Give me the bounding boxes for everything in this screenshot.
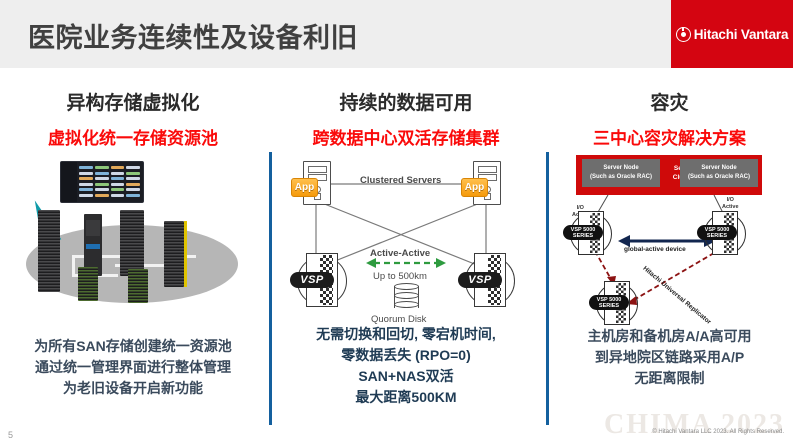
storage-rack xyxy=(164,221,184,287)
vsp5000-primary: VSP 5000 SERIES xyxy=(568,211,612,255)
storage-rack xyxy=(78,267,98,301)
body-line: 为所有SAN存储创建统一资源池 xyxy=(0,336,266,357)
storage-virtualization-diagram xyxy=(0,157,266,332)
column-disaster-recovery: 容灾 三中心容灾解决方案 Server Node(Such as Oracle … xyxy=(546,78,793,428)
body-line: 通过统一管理界面进行整体管理 xyxy=(0,357,266,378)
io-line2: Active xyxy=(722,204,739,210)
io-line1: I/O xyxy=(727,197,734,203)
hitachi-vantara-logo: Hitachi Vantara xyxy=(671,0,793,68)
management-console-screen xyxy=(60,161,144,203)
rack-accent xyxy=(184,221,187,287)
storage-rack xyxy=(128,269,148,303)
three-dc-dr-diagram: Server Node(Such as Oracle RAC) Server C… xyxy=(546,153,793,328)
body-line: 零数据丢失 (RPO=0) xyxy=(272,345,540,366)
column-3-body: 主机房和备机房A/A高可用 到异地院区链路采用A/P 无距离限制 xyxy=(546,326,793,389)
logo-text: Hitachi Vantara xyxy=(694,27,789,42)
console-rows xyxy=(79,166,140,199)
console-sidebar xyxy=(61,162,77,202)
body-line: 主机房和备机房A/A高可用 xyxy=(546,326,793,347)
vsp-storage-right: VSP xyxy=(462,253,518,307)
vsp5000-secondary: VSP 5000 SERIES xyxy=(702,211,746,255)
vsp-line2: SERIES xyxy=(573,233,593,239)
vsp-line2: SERIES xyxy=(707,233,727,239)
hitachi-logo-mark-icon xyxy=(676,27,691,42)
vsp5000-remote: VSP 5000 SERIES xyxy=(594,281,638,325)
page-number: 5 xyxy=(8,430,13,440)
quorum-disk-icon xyxy=(394,283,419,311)
active-active-cluster-diagram: App App Clustered Servers Active-Active … xyxy=(272,155,540,330)
page-title: 医院业务连续性及设备利旧 xyxy=(28,16,358,55)
storage-rack xyxy=(120,210,144,276)
body-line: SAN+NAS双活 xyxy=(272,366,540,387)
column-2-subheading: 跨数据中心双活存储集群 xyxy=(272,124,540,149)
column-2-body: 无需切换和回切, 零宕机时间, 零数据丢失 (RPO=0) SAN+NAS双活 … xyxy=(272,324,540,408)
body-line: 无距离限制 xyxy=(546,368,793,389)
vsp-line2: SERIES xyxy=(599,303,619,309)
app-badge-left: App xyxy=(291,178,318,197)
column-storage-virtualization: 异构存储虚拟化 虚拟化统一存储资源池 xyxy=(0,78,266,428)
global-active-device-label: global-active device xyxy=(624,246,686,253)
storage-rack xyxy=(38,210,60,292)
distance-label: Up to 500km xyxy=(373,271,427,282)
column-1-subheading: 虚拟化统一存储资源池 xyxy=(0,124,266,149)
column-2-heading: 持续的数据可用 xyxy=(272,88,540,115)
vsp-label: VSP xyxy=(458,272,502,288)
vsp-label: VSP xyxy=(290,272,334,288)
active-active-label: Active-Active xyxy=(370,248,430,259)
column-3-subheading: 三中心容灾解决方案 xyxy=(546,124,793,149)
column-3-heading: 容灾 xyxy=(546,88,793,115)
body-line: 为老旧设备开启新功能 xyxy=(0,378,266,399)
body-line: 最大距离500KM xyxy=(272,387,540,408)
vsp-storage-left: VSP xyxy=(294,253,350,307)
copyright-notice: © Hitachi Vantara LLC 2023. All Rights R… xyxy=(652,429,784,435)
slide-header: 医院业务连续性及设备利旧 Hitachi Vantara xyxy=(0,0,793,68)
quorum-disk-label: Quorum Disk xyxy=(371,314,426,325)
column-1-heading: 异构存储虚拟化 xyxy=(0,88,266,115)
io-active-label-right: I/O Active xyxy=(722,197,739,211)
clustered-servers-label: Clustered Servers xyxy=(360,175,441,186)
column-continuous-availability: 持续的数据可用 跨数据中心双活存储集群 App xyxy=(272,78,540,428)
body-line: 到异地院区链路采用A/P xyxy=(546,347,793,368)
column-1-body: 为所有SAN存储创建统一资源池 通过统一管理界面进行整体管理 为老旧设备开启新功… xyxy=(0,336,266,399)
app-badge-right: App xyxy=(461,178,488,197)
